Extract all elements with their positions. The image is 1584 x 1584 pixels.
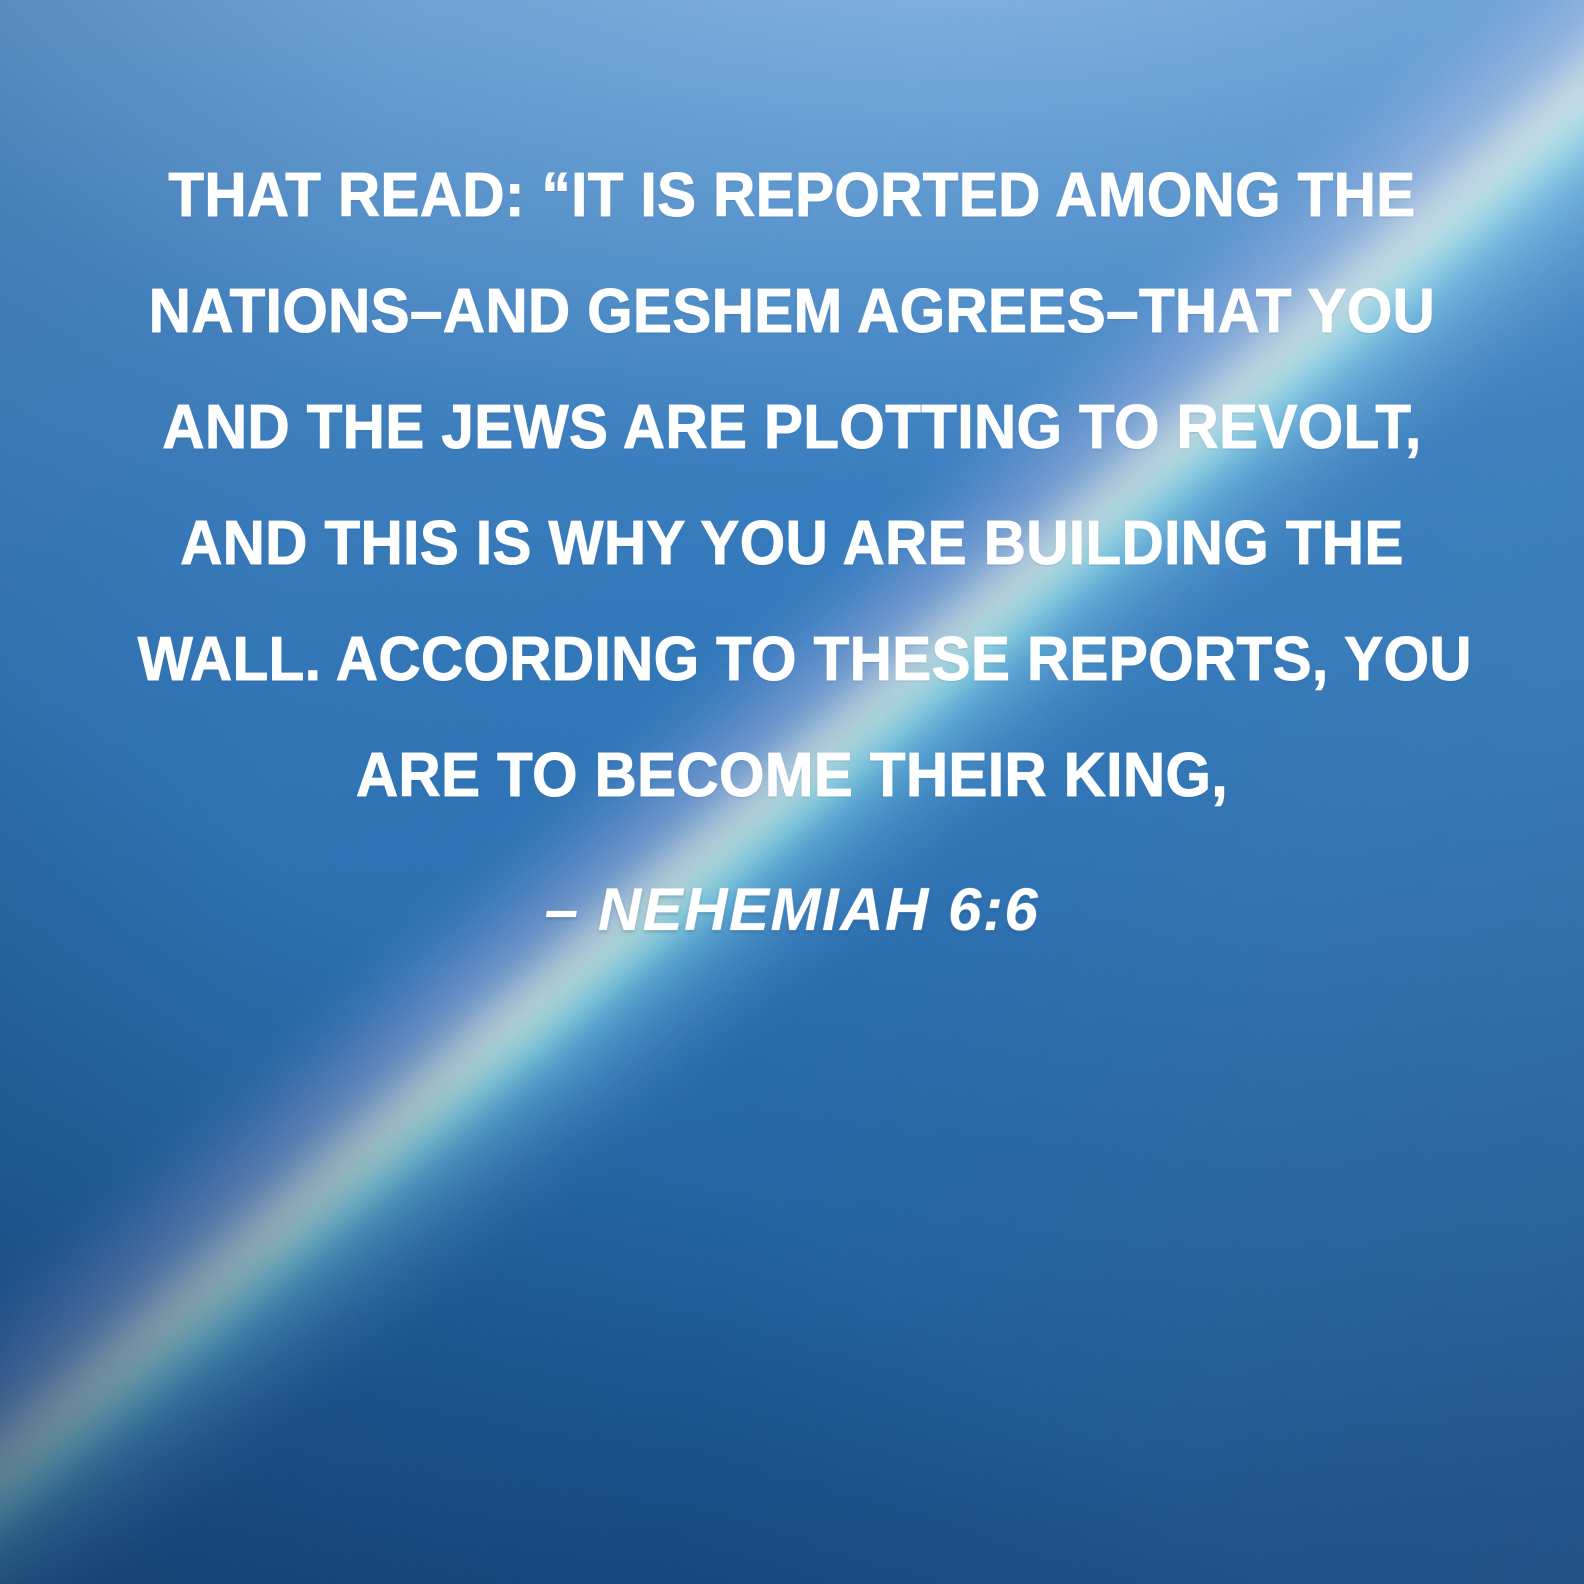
- quote-line-3: AND THE JEWS ARE PLOTTING TO REVOLT,: [138, 370, 1446, 486]
- quote-line-2: NATIONS–AND GESHEM AGREES–THAT YOU: [138, 254, 1446, 370]
- quote-line-4: AND THIS IS WHY YOU ARE BUILDING THE: [138, 486, 1446, 602]
- quote-text-block: THAT READ: “IT IS REPORTED AMONG THE NAT…: [0, 138, 1584, 946]
- scripture-image-card: THAT READ: “IT IS REPORTED AMONG THE NAT…: [0, 0, 1584, 1584]
- quote-line-5: WALL. ACCORDING TO THESE REPORTS, YOU: [138, 602, 1446, 718]
- quote-line-1: THAT READ: “IT IS REPORTED AMONG THE: [138, 138, 1446, 254]
- quote-line-6: ARE TO BECOME THEIR KING,: [138, 718, 1446, 834]
- scripture-reference: – NEHEMIAH 6:6: [96, 874, 1488, 946]
